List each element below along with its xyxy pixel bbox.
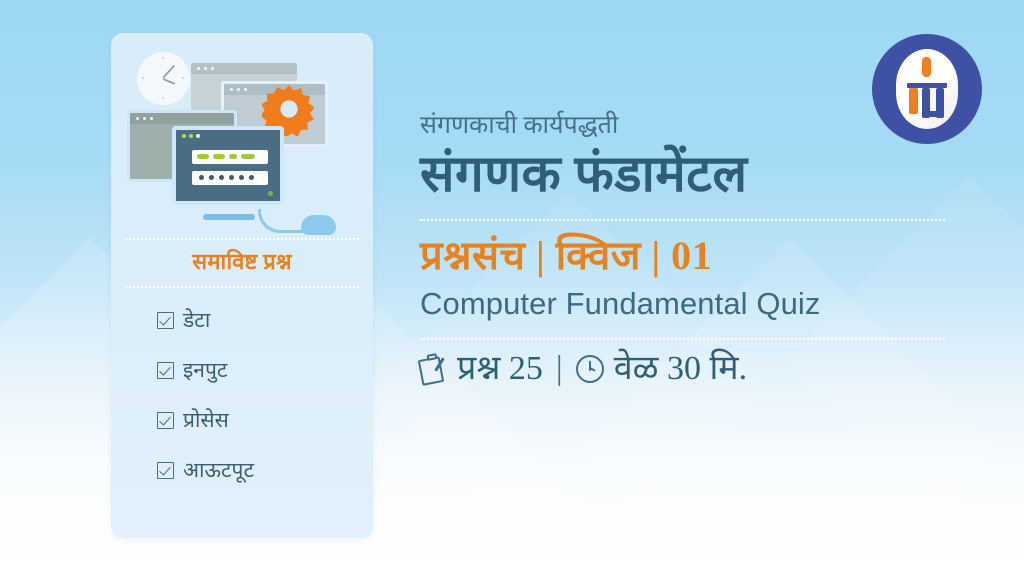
list-item[interactable]: डेटा (157, 310, 373, 331)
list-item[interactable]: इनपुट (157, 360, 373, 381)
illustration-monitor (172, 126, 284, 205)
clock-icon (576, 355, 604, 383)
time-meta: वेळ 30 मि. (576, 352, 747, 386)
monitor-titlebar (176, 130, 280, 141)
quiz-meta-row: प्रश्न 25 | वेळ 30 मि. (420, 352, 980, 386)
panel-rule-bottom (420, 338, 945, 340)
card-rule-top (125, 238, 359, 240)
illustration-mouse (301, 215, 336, 235)
time-limit-label: वेळ 30 मि. (614, 352, 747, 386)
logo-glyph-stroke-top (922, 57, 931, 77)
brand-logo[interactable] (872, 34, 982, 144)
logo-glyph-stroke-bottom (922, 111, 944, 117)
card-heading: समाविष्ट प्रश्न (111, 240, 373, 286)
included-topics-card: समाविष्ट प्रश्न डेटा इनपुट प्रोसेस आऊटपू… (111, 33, 373, 538)
panel-rule-top (420, 219, 945, 221)
checkbox-checked-icon (157, 462, 174, 479)
monitor-power-led (268, 191, 273, 196)
questions-meta: प्रश्न 25 (420, 352, 543, 386)
logo-glyph-stroke-left (909, 88, 918, 114)
quiz-details-panel: संगणकाची कार्यपद्धती संगणक फंडामेंटल प्र… (420, 112, 980, 386)
page-title: संगणक फंडामेंटल (420, 146, 980, 205)
illustration-keyboard (203, 214, 255, 220)
list-item[interactable]: प्रोसेस (157, 410, 373, 431)
list-item-label: आऊटपूट (183, 460, 254, 481)
card-rule-bottom (125, 286, 359, 288)
questions-count-label: प्रश्न 25 (457, 352, 543, 386)
checkbox-checked-icon (157, 412, 174, 429)
monitor-field-password (192, 171, 268, 185)
poster-canvas: समाविष्ट प्रश्न डेटा इनपुट प्रोसेस आऊटपू… (0, 0, 1024, 576)
logo-inner-plate (896, 49, 958, 129)
list-item-label: इनपुट (183, 360, 227, 381)
checkbox-checked-icon (157, 362, 174, 379)
quiz-series-label: प्रश्नसंच | क्विज | 01 (420, 233, 980, 279)
checkbox-checked-icon (157, 312, 174, 329)
list-item-label: प्रोसेस (183, 410, 229, 431)
illustration-mouse-cord (258, 209, 304, 233)
computer-workflow-illustration (111, 33, 373, 238)
list-item[interactable]: आऊटपूट (157, 460, 373, 481)
monitor-field-username (192, 150, 268, 164)
included-topics-list: डेटा इनपुट प्रोसेस आऊटपूट (111, 288, 373, 481)
clipboard-icon (420, 354, 447, 384)
meta-separator: | (556, 352, 563, 386)
illustration-clock-icon (137, 52, 190, 105)
list-item-label: डेटा (183, 310, 210, 331)
quiz-english-title: Computer Fundamental Quiz (420, 285, 980, 324)
